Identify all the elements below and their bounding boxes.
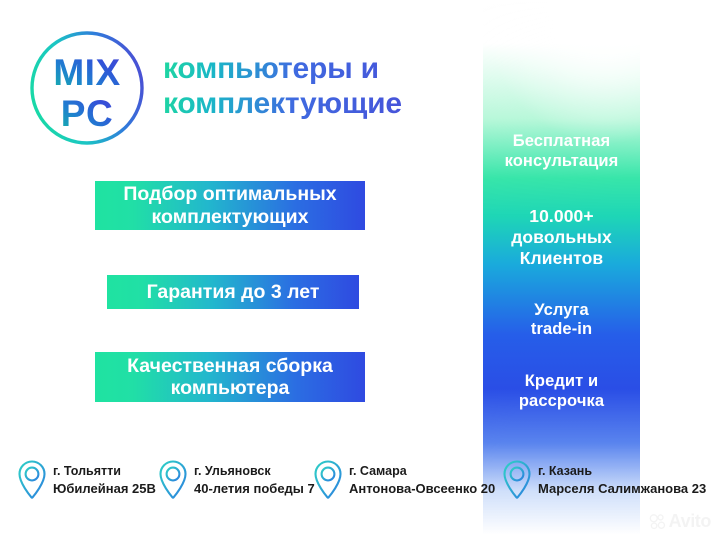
location-text: г. Тольятти Юбилейная 25В [53, 463, 156, 497]
location-kazan: г. Казань Марселя Салимжанова 23 [502, 459, 706, 501]
location-tolyatti: г. Тольятти Юбилейная 25В [17, 459, 156, 501]
avito-watermark-label: Avito [669, 511, 711, 532]
map-pin-icon [17, 459, 47, 501]
location-samara: г. Самара Антонова-Овсеенко 20 [313, 459, 495, 501]
location-text: г. Самара Антонова-Овсеенко 20 [349, 463, 495, 497]
location-text: г. Ульяновск 40-летия победы 7 [194, 463, 315, 497]
feature-bar-assembly: Качественная сборка компьютера [95, 352, 365, 402]
location-text: г. Казань Марселя Салимжанова 23 [538, 463, 706, 497]
location-address: Антонова-Овсеенко 20 [349, 480, 495, 497]
location-city: г. Ульяновск [194, 463, 315, 480]
panel-item-consultation: Бесплатная консультация [505, 132, 619, 172]
advertisement-banner: Бесплатная консультация 10.000+ довольны… [0, 0, 720, 540]
panel-item-tradein: Услуга trade-in [531, 301, 592, 341]
panel-item-credit: Кредит и рассрочка [519, 372, 604, 412]
location-address: Марселя Салимжанова 23 [538, 480, 706, 497]
panel-item-clients: 10.000+ довольных Клиентов [511, 206, 612, 269]
location-city: г. Тольятти [53, 463, 156, 480]
avito-watermark: Avito [649, 511, 711, 532]
location-city: г. Казань [538, 463, 706, 480]
brand-logo: MIX PC [24, 26, 150, 150]
svg-text:PC: PC [61, 93, 113, 134]
location-ulyanovsk: г. Ульяновск 40-летия победы 7 [158, 459, 315, 501]
feature-bar-warranty: Гарантия до 3 лет [107, 275, 359, 309]
map-pin-icon [158, 459, 188, 501]
locations-footer: г. Тольятти Юбилейная 25В г. Ульяновск 4… [0, 459, 720, 515]
svg-text:MIX: MIX [53, 52, 120, 93]
location-address: Юбилейная 25В [53, 480, 156, 497]
map-pin-icon [313, 459, 343, 501]
mixpc-logo-icon: MIX PC [24, 26, 150, 150]
location-city: г. Самара [349, 463, 495, 480]
avito-logo-icon [649, 513, 666, 530]
location-address: 40-летия победы 7 [194, 480, 315, 497]
page-title: компьютеры и комплектующие [163, 52, 463, 122]
feature-bar-components: Подбор оптимальных комплектующих [95, 181, 365, 230]
map-pin-icon [502, 459, 532, 501]
